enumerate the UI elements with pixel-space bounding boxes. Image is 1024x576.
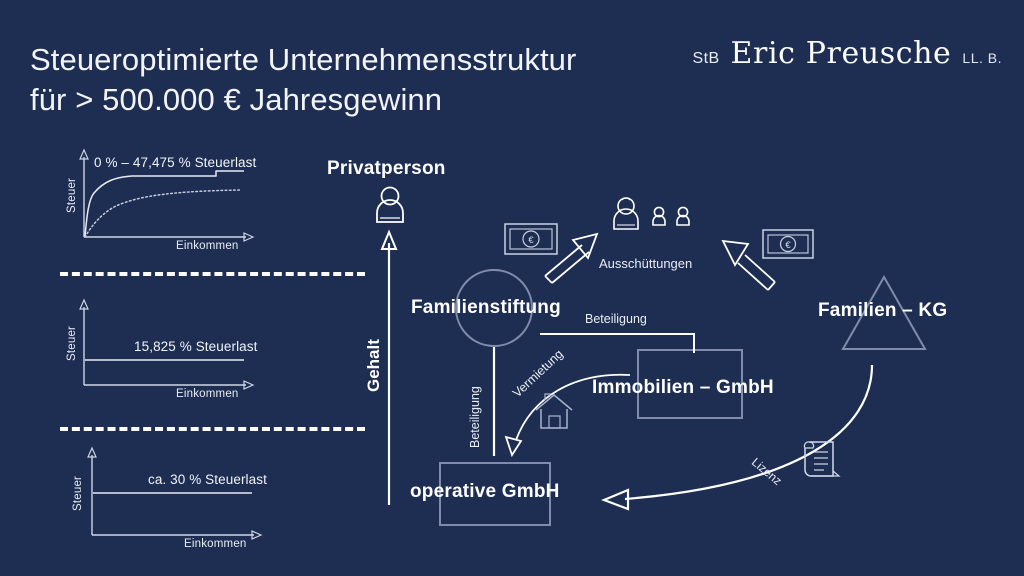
logo-suffix: LL. B. bbox=[962, 50, 1002, 66]
divider-1 bbox=[60, 272, 365, 276]
node-familien-kg[interactable]: Familien – KG bbox=[818, 300, 947, 322]
logo-name: Eric Preusche bbox=[731, 36, 952, 71]
beteiligung-connector-immobilien bbox=[540, 334, 694, 353]
family-icon bbox=[614, 198, 689, 229]
ausschuettung-arrow-right bbox=[723, 241, 775, 290]
euro-banknote-icon-left bbox=[505, 224, 557, 254]
chart-flat-30: Steuer ca. 30 % Steuerlast Einkommen bbox=[58, 443, 358, 563]
house-icon bbox=[536, 394, 572, 428]
node-immobilien-gmbh[interactable]: Immobilien – GmbH bbox=[592, 377, 774, 399]
edge-label-lizenz: Lizenz bbox=[749, 455, 785, 488]
edge-label-gehalt: Gehalt bbox=[364, 339, 384, 392]
node-operative-gmbh[interactable]: operative GmbH bbox=[410, 481, 560, 503]
gehalt-arrow bbox=[382, 232, 396, 505]
ausschuettung-arrow-left bbox=[545, 234, 597, 283]
node-privatperson[interactable]: Privatperson bbox=[327, 158, 446, 180]
chart-progressive-plot bbox=[58, 145, 358, 265]
chart-progressive: Steuer 0 % – 47,475 % Steuerlast Einkomm… bbox=[58, 145, 358, 265]
person-icon bbox=[377, 188, 403, 223]
slide-canvas: Steueroptimierte Unternehmensstruktur fü… bbox=[0, 0, 1024, 576]
logo-prefix: StB bbox=[693, 50, 720, 68]
node-familienstiftung[interactable]: Familienstiftung bbox=[411, 297, 561, 319]
chart-flat-15825-plot bbox=[58, 295, 358, 415]
chart-flat-15825: Steuer 15,825 % Steuerlast Einkommen bbox=[58, 295, 358, 415]
license-document-icon bbox=[804, 442, 839, 476]
euro-symbol-left: € bbox=[528, 235, 534, 246]
divider-2 bbox=[60, 427, 365, 431]
edge-label-beteiligung-immobilien: Beteiligung bbox=[585, 312, 647, 326]
edge-label-ausschuettungen: Ausschüttungen bbox=[599, 256, 692, 271]
edge-label-beteiligung-operative: Beteiligung bbox=[468, 386, 482, 448]
brand-logo: StB Eric Preusche LL. B. bbox=[693, 36, 1002, 71]
euro-symbol-right: € bbox=[785, 240, 791, 251]
euro-banknote-icon-right bbox=[763, 230, 813, 258]
edge-label-vermietung: Vermietung bbox=[510, 347, 566, 400]
page-title: Steueroptimierte Unternehmensstruktur fü… bbox=[30, 40, 576, 121]
chart-flat-30-plot bbox=[58, 443, 358, 563]
